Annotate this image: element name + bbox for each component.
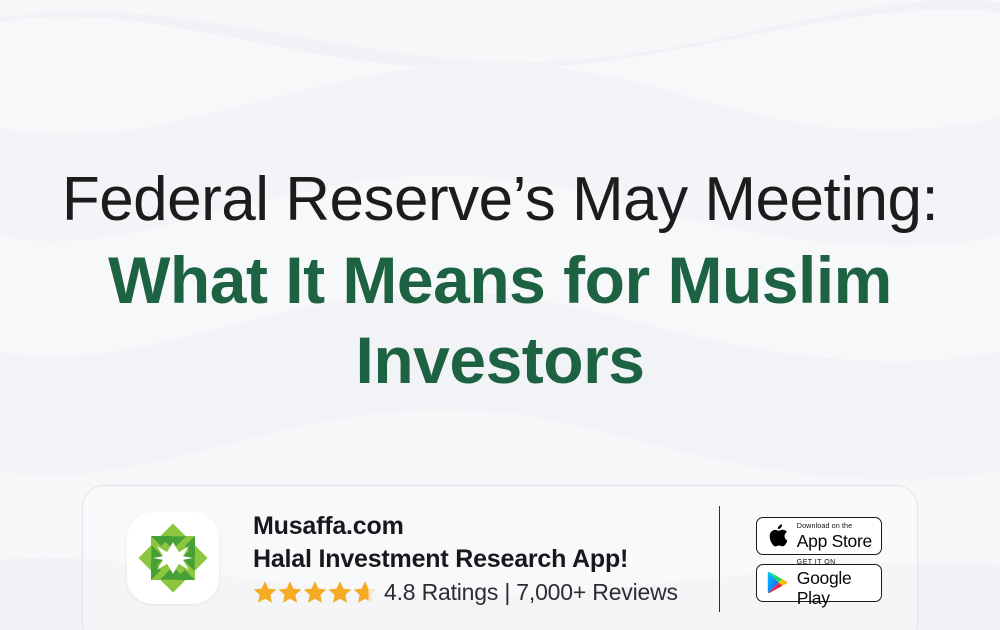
app-store-badge-labels: Download on the App Store bbox=[797, 521, 872, 551]
google-play-badge-small-label: GET IT ON bbox=[797, 558, 881, 567]
promo-rating-row: 4.8 Ratings | 7,000+ Reviews bbox=[253, 578, 678, 606]
rating-stars bbox=[253, 579, 377, 604]
headline-line-1: Federal Reserve’s May Meeting: bbox=[0, 160, 1000, 240]
app-store-badge[interactable]: Download on the App Store bbox=[756, 517, 882, 555]
musaffa-app-icon[interactable] bbox=[127, 512, 219, 604]
google-play-badge-labels: GET IT ON Google Play bbox=[797, 558, 881, 608]
promo-banner: Federal Reserve’s May Meeting: What It M… bbox=[0, 0, 1000, 630]
store-badges: Download on the App Store bbox=[756, 517, 882, 602]
app-store-badge-large-label: App Store bbox=[797, 531, 872, 551]
headline-line-2: What It Means for Muslim bbox=[0, 240, 1000, 320]
headline-block: Federal Reserve’s May Meeting: What It M… bbox=[0, 160, 1000, 400]
promo-text-block: Musaffa.com Halal Investment Research Ap… bbox=[253, 510, 678, 606]
headline-line-3: Investors bbox=[0, 320, 1000, 400]
google-play-badge[interactable]: GET IT ON Google Play bbox=[756, 564, 882, 602]
vertical-divider bbox=[719, 506, 720, 612]
promo-card-inner: Musaffa.com Halal Investment Research Ap… bbox=[83, 486, 917, 612]
google-play-triangle-icon bbox=[766, 571, 790, 594]
rating-label: 4.8 Ratings | 7,000+ Reviews bbox=[384, 578, 678, 606]
promo-tagline: Halal Investment Research App! bbox=[253, 543, 678, 576]
app-store-badge-small-label: Download on the bbox=[797, 521, 872, 530]
promo-card: Musaffa.com Halal Investment Research Ap… bbox=[82, 485, 918, 630]
promo-brand-name: Musaffa.com bbox=[253, 510, 678, 543]
star-rating-icon bbox=[253, 579, 377, 604]
musaffa-rosette-logo-icon bbox=[137, 522, 209, 594]
apple-logo-icon bbox=[766, 524, 790, 547]
google-play-badge-large-label: Google Play bbox=[797, 568, 881, 608]
